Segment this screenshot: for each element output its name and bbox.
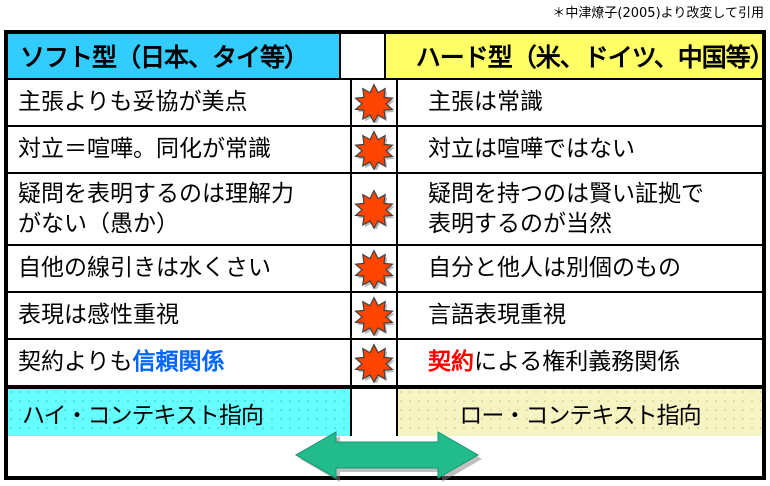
- table-row: 表現は感性重視 言語表現重視: [8, 293, 762, 340]
- table-row: 対立＝喧嘩。同化が常識 対立は喧嘩ではない: [8, 127, 762, 174]
- table-row: 契約よりも信頼関係 契約による権利義務関係: [8, 340, 762, 387]
- row-1-left-cell: 主張よりも妥協が美点: [8, 80, 352, 125]
- source-citation: ＊中津燎子(2005)より改変して引用: [552, 2, 764, 21]
- footer-cell-divider: [352, 389, 398, 436]
- row-6-right-cell: 契約による権利義務関係: [398, 340, 762, 385]
- soft-type-header-label: ソフト型（日本、タイ等）: [18, 38, 308, 74]
- row-2-left-text: 対立＝喧嘩。同化が常識: [18, 134, 271, 164]
- row-2-icon-cell: [352, 127, 398, 172]
- starburst-icon: [354, 130, 394, 170]
- row-4-right-text: 自分と他人は別個のもの: [428, 253, 681, 283]
- table-row: 主張よりも妥協が美点 主張は常識: [8, 80, 762, 127]
- row-3-icon-cell: [352, 174, 398, 244]
- row-1-left-text: 主張よりも妥協が美点: [18, 87, 248, 117]
- starburst-icon: [354, 189, 394, 229]
- row-2-right-cell: 対立は喧嘩ではない: [398, 127, 762, 172]
- row-1-right-cell: 主張は常識: [398, 80, 762, 125]
- row-6-left-prefix: 契約よりも: [18, 349, 133, 375]
- starburst-icon: [354, 296, 394, 336]
- row-6-right-text: 契約による権利義務関係: [428, 347, 680, 377]
- row-3-left-text: 疑問を表明するのは理解力 がない（愚か）: [18, 179, 294, 240]
- row-1-right-text: 主張は常識: [428, 87, 543, 117]
- row-6-left-cell: 契約よりも信頼関係: [8, 340, 352, 385]
- table-grid: ソフト型（日本、タイ等） ハード型（米、ドイツ、中国等） 主張よりも妥協が美点: [8, 34, 762, 476]
- row-3-right-cell: 疑問を持つのは賢い証拠で 表明するのが当然: [398, 174, 762, 244]
- row-5-left-cell: 表現は感性重視: [8, 293, 352, 338]
- hard-type-header-label: ハード型（米、ドイツ、中国等）: [416, 38, 762, 74]
- table-row: 自他の線引きは水くさい 自分と他人は別個のもの: [8, 246, 762, 293]
- row-4-left-cell: 自他の線引きは水くさい: [8, 246, 352, 291]
- footer-cell-high-context: ハイ・コンテキスト指向: [8, 389, 352, 436]
- row-6-icon-cell: [352, 340, 398, 385]
- footer-cell-low-context: ロー・コンテキスト指向: [398, 389, 762, 436]
- header-cell-divider: [341, 34, 386, 78]
- row-2-right-text: 対立は喧嘩ではない: [428, 134, 635, 164]
- table-header-row: ソフト型（日本、タイ等） ハード型（米、ドイツ、中国等）: [8, 34, 762, 80]
- header-cell-hard: ハード型（米、ドイツ、中国等）: [386, 34, 762, 78]
- row-3-left-cell: 疑問を表明するのは理解力 がない（愚か）: [8, 174, 352, 244]
- row-4-right-cell: 自分と他人は別個のもの: [398, 246, 762, 291]
- row-5-right-cell: 言語表現重視: [398, 293, 762, 338]
- table-row: 疑問を表明するのは理解力 がない（愚か） 疑問を持つのは賢い証拠で 表明するのが…: [8, 174, 762, 246]
- high-context-label: ハイ・コンテキスト指向: [22, 396, 263, 430]
- row-3-right-text: 疑問を持つのは賢い証拠で 表明するのが当然: [428, 179, 704, 240]
- row-6-left-emphasis: 信頼関係: [133, 349, 225, 375]
- row-1-icon-cell: [352, 80, 398, 125]
- row-2-left-cell: 対立＝喧嘩。同化が常識: [8, 127, 352, 172]
- row-4-left-text: 自他の線引きは水くさい: [18, 253, 271, 283]
- header-cell-soft: ソフト型（日本、タイ等）: [8, 34, 341, 78]
- low-context-label: ロー・コンテキスト指向: [459, 396, 700, 430]
- comparison-table: ソフト型（日本、タイ等） ハード型（米、ドイツ、中国等） 主張よりも妥協が美点: [4, 30, 766, 480]
- starburst-icon: [354, 83, 394, 123]
- row-5-right-text: 言語表現重視: [428, 300, 566, 330]
- row-4-icon-cell: [352, 246, 398, 291]
- row-6-left-text: 契約よりも信頼関係: [18, 347, 225, 377]
- starburst-icon: [354, 249, 394, 289]
- row-6-right-suffix: による権利義務関係: [474, 349, 680, 375]
- row-5-left-text: 表現は感性重視: [18, 300, 179, 330]
- row-6-right-emphasis: 契約: [428, 349, 474, 375]
- starburst-icon: [354, 343, 394, 383]
- table-footer-row: ハイ・コンテキスト指向 ロー・コンテキスト指向: [8, 387, 762, 436]
- row-5-icon-cell: [352, 293, 398, 338]
